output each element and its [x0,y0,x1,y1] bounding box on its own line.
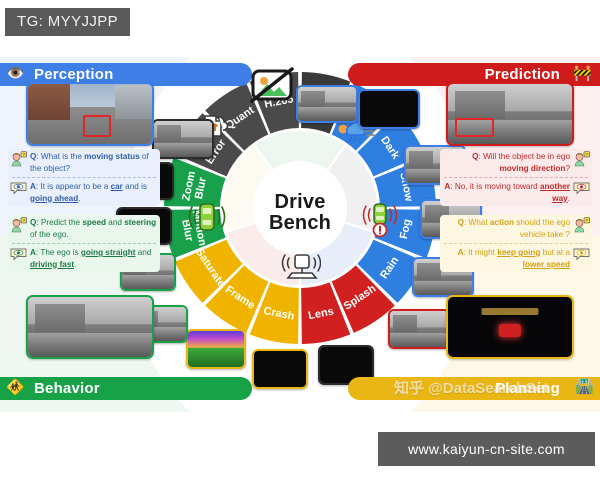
qa-answer-row: A: No, it is moving toward another way. [440,179,592,206]
thumbnail-scene [360,91,418,127]
qa-answer-row: A: The ego is going straight and driving… [8,245,160,272]
thumbnail-scene [188,331,244,367]
qa-question-row: ? Q: Will the object be in ego moving di… [440,149,592,176]
night-road-scene [448,297,572,357]
qa-divider [444,243,588,244]
motion-blur-icon [281,249,321,285]
thumb-text-only [152,119,214,159]
sensor-failure-icon [359,201,401,239]
banner-prediction-label: Prediction [485,66,560,83]
eye-bubble-icon [573,247,590,263]
qa-block-perception: ? Q: What is the moving status of the ob… [8,149,160,206]
thumbnail-scene [298,87,356,121]
example-image-planning [446,295,574,359]
qa-question-text: Q: What is the moving status of the obje… [30,151,158,174]
qa-block-behavior: ? Q: Predict the speed and steering of t… [8,215,160,272]
figure-canvas: 👁️ Perception Prediction 🚧 🚸 Behavior Pl… [0,57,600,412]
url-watermark: www.kaiyun-cn-site.com [378,432,595,466]
watermark: 知乎 @DataSearchSet [394,377,549,398]
thumb-splash [388,309,450,349]
thumb-crash [252,349,308,389]
person-question-icon: ? [10,151,27,167]
thumbnail-scene [154,121,212,157]
no-image-crossed-icon [248,65,296,105]
qa-block-planning: ? Q: What action should the ego vehicle … [440,215,592,272]
qa-divider [444,177,588,178]
qa-question-row: ? Q: What is the moving status of the ob… [8,149,160,176]
qa-answer-text: A: It is appear to be a car and is going… [30,181,158,204]
center-title-line1: Drive [269,192,331,213]
foggy-waterfront-scene [28,297,152,357]
qa-answer-row: A: It might keep going but at a lower sp… [440,245,592,272]
eye-hand-icon: 👁️ [6,66,25,81]
thumbnail-scene [390,311,448,347]
wheel-center-title: Drive Bench [269,192,331,234]
traffic-cone-icon: 🚧 [573,66,592,81]
thumbnail-scene [254,351,306,387]
person-question-icon: ? [573,151,590,167]
example-image-behavior [26,295,154,359]
banner-behavior-label: Behavior [34,380,100,397]
qa-question-row: ? Q: Predict the speed and steering of t… [8,215,160,242]
winding-road-icon: 🛣️ [575,379,594,394]
person-question-icon: ? [573,217,590,233]
example-image-prediction [446,82,574,146]
eye-bubble-icon [573,181,590,197]
qa-answer-text: A: No, it is moving toward another way. [442,181,570,204]
qa-answer-row: A: It is appear to be a car and is going… [8,179,160,206]
eye-bubble-icon [10,247,27,263]
tg-tag: TG: MYYJJPP [5,8,130,36]
thumb-dark [358,89,420,129]
qa-question-text: Q: What action should the ego vehicle ta… [442,217,570,240]
qa-answer-text: A: It might keep going but at a lower sp… [442,247,570,270]
qa-divider [12,243,156,244]
eye-bubble-icon [10,181,27,197]
person-question-icon: ? [10,217,27,233]
qa-divider [12,177,156,178]
thumb-saturate [186,329,246,369]
bounding-box [455,118,494,138]
example-image-perception [26,82,154,146]
qa-block-prediction: ? Q: Will the object be in ego moving di… [440,149,592,206]
qa-answer-text: A: The ego is going straight and driving… [30,247,158,270]
qa-question-text: Q: Predict the speed and steering of the… [30,217,158,240]
banner-perception-label: Perception [34,66,114,83]
ego-vehicle-icon [187,199,227,235]
banner-behavior: 🚸 Behavior [0,377,252,400]
thumb-bright [296,85,358,123]
qa-question-text: Q: Will the object be in ego moving dire… [442,151,570,174]
signpost-icon: 🚸 [6,380,25,395]
bounding-box [83,115,112,137]
center-title-line2: Bench [269,213,331,234]
qa-question-row: ? Q: What action should the ego vehicle … [440,215,592,242]
